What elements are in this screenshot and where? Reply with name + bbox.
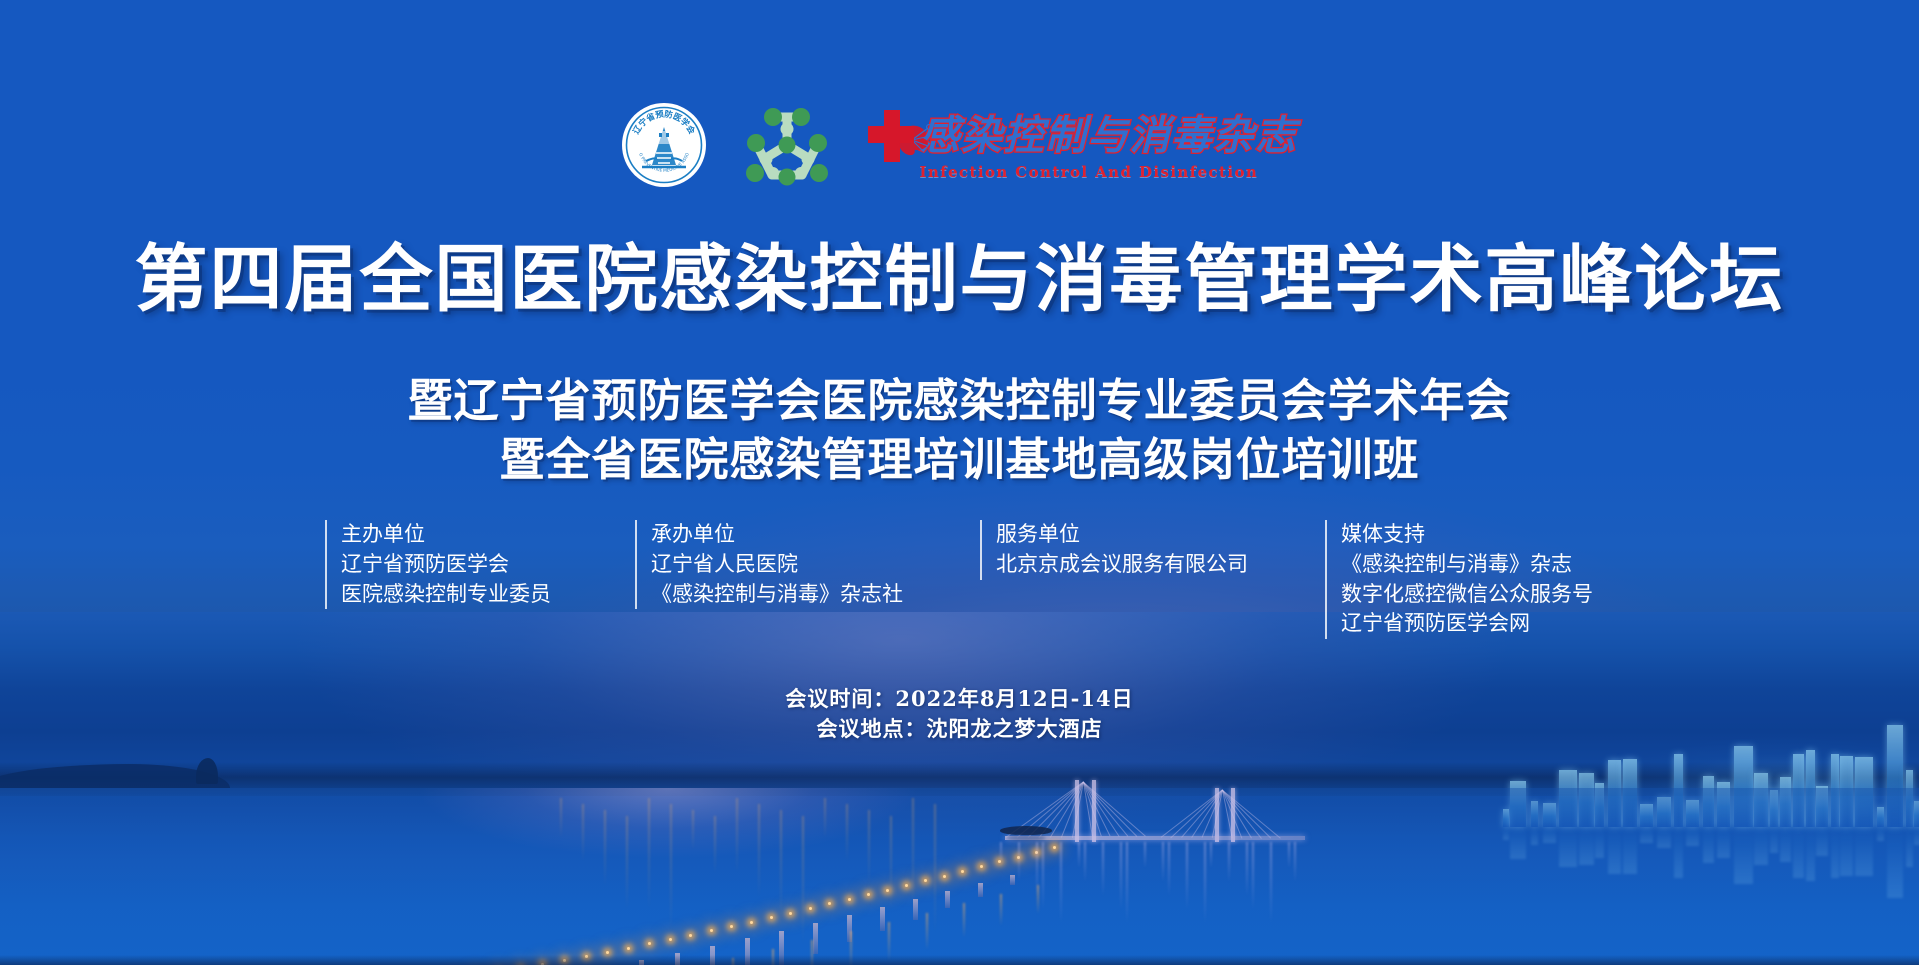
water-light-streak [758, 804, 760, 898]
water-light-streak [824, 798, 826, 838]
red-cross-icon [868, 110, 914, 162]
bridge-night-photo [0, 612, 1919, 965]
tower-light-reflection [1162, 842, 1164, 882]
bridge-lamp [886, 889, 889, 892]
water-light-streak [780, 810, 782, 922]
tower-light-reflection [1204, 842, 1206, 924]
bridge-lamp [606, 951, 609, 954]
tower-light-reflection [1144, 842, 1146, 868]
meeting-info: 会议时间：2022年8月12日-14日 会议地点：沈阳龙之梦大酒店 [0, 684, 1919, 744]
water-light-streak [912, 798, 914, 910]
boat [1000, 826, 1052, 835]
bridge-lamp [924, 879, 927, 882]
logo-row: 辽宁省预防医学会 LIAONING PREVENTIVE MEDICINE AS… [0, 96, 1919, 194]
org-line: 数字化感控微信公众服务号 [1341, 580, 1625, 610]
bridge-lamp [770, 916, 773, 919]
water-light-streak [868, 810, 870, 886]
tower-light-reflection [1036, 842, 1038, 896]
org-line: 《感染控制与消毒》杂志 [1341, 550, 1625, 580]
tower-light-reflection [1084, 842, 1086, 882]
tower-light-reflection [1252, 842, 1254, 910]
liaoning-preventive-medicine-association-emblem: 辽宁省预防医学会 LIAONING PREVENTIVE MEDICINE AS… [622, 103, 706, 187]
water-light-streak [714, 816, 716, 874]
bridge-lamp [961, 870, 964, 873]
bridge-lamp [905, 884, 908, 887]
bridge-lamp [848, 898, 851, 901]
bridge-lamp [1053, 846, 1056, 849]
conference-poster: 辽宁省预防医学会 LIAONING PREVENTIVE MEDICINE AS… [0, 0, 1919, 965]
bridge-lamp [943, 875, 946, 878]
tower-light-reflection [1078, 842, 1080, 868]
water-light-streak [890, 816, 892, 910]
tower-light-reflection [1186, 842, 1188, 910]
tower-light-reflection [1270, 842, 1272, 924]
tower-light-reflection [1168, 842, 1170, 896]
water-light-streak [604, 810, 606, 886]
org-line: 北京京成会议服务有限公司 [996, 550, 1325, 580]
tower-light-reflection [1000, 842, 1002, 868]
main-title: 第四届全国医院感染控制与消毒管理学术高峰论坛 [0, 243, 1919, 316]
bridge-lamp [730, 925, 733, 928]
sub-title-2: 暨全省医院感染管理培训基地高级岗位培训班 [0, 423, 1919, 488]
tower-light-reflection [1210, 842, 1212, 868]
bridge-pier [1010, 875, 1015, 885]
water-light-streak [846, 804, 848, 862]
bridge-lamp [627, 947, 630, 950]
org-heading: 承办单位 [651, 520, 980, 550]
journal-title-cn: 感染控制与消毒杂志 [920, 115, 1298, 157]
org-heading: 服务单位 [996, 520, 1325, 550]
journal-title-en: Infection Control And Disinfection [920, 163, 1259, 181]
org-column-service: 服务单位 北京京成会议服务有限公司 [980, 520, 1325, 580]
lamp-reflection [926, 913, 928, 950]
bridge-pier [945, 891, 950, 908]
tower-light-reflection [1120, 842, 1122, 910]
bridge-lamp [980, 865, 983, 868]
bridge-lamp [750, 921, 753, 924]
tower-light-reflection [1294, 842, 1296, 882]
org-column-organizer: 承办单位 辽宁省人民医院 《感染控制与消毒》杂志社 [635, 520, 980, 609]
tower-light-reflection [1246, 842, 1248, 896]
org-line: 辽宁省预防医学会网 [1341, 609, 1625, 639]
organization-columns: 主办单位 辽宁省预防医学会 医院感染控制专业委员 承办单位 辽宁省人民医院 《感… [325, 520, 1625, 640]
molecule-cluster-logo [742, 103, 832, 187]
tower-light-reflection [1288, 842, 1290, 868]
meeting-time: 会议时间：2022年8月12日-14日 [0, 684, 1919, 714]
tower-light-reflection [1018, 842, 1020, 882]
water-light-streak [670, 804, 672, 934]
tower-light-reflection [1228, 842, 1230, 882]
sub-title-1: 暨辽宁省预防医学会医院感染控制专业委员会学术年会 [0, 364, 1919, 429]
tower-light-reflection [1060, 842, 1062, 924]
bridge-pier [978, 883, 983, 896]
water-light-streak [934, 804, 936, 934]
water-light-streak [692, 810, 694, 850]
org-heading: 主办单位 [341, 520, 635, 550]
water-light-streak [648, 798, 650, 910]
bridge-lamp [669, 938, 672, 941]
meeting-place: 会议地点：沈阳龙之梦大酒店 [0, 714, 1919, 744]
photo-bottom-edge [0, 955, 1919, 965]
tower-light-reflection [1102, 842, 1104, 896]
org-column-media: 媒体支持 《感染控制与消毒》杂志 数字化感控微信公众服务号 辽宁省预防医学会网 [1325, 520, 1625, 639]
water-light-streak [802, 816, 804, 946]
water-light-streak [560, 798, 562, 838]
org-heading: 媒体支持 [1341, 520, 1625, 550]
water-light-streak [582, 804, 584, 862]
org-line: 辽宁省预防医学会 [341, 550, 635, 580]
lamp-reflection [963, 903, 965, 938]
lamp-reflection [1000, 894, 1002, 926]
org-line: 《感染控制与消毒》杂志社 [651, 580, 980, 610]
org-column-host: 主办单位 辽宁省预防医学会 医院感染控制专业委员 [325, 520, 635, 609]
water-light-streak [736, 798, 738, 874]
tower-light-reflection [1042, 842, 1044, 910]
org-line: 辽宁省人民医院 [651, 550, 980, 580]
tower-light-reflection [1126, 842, 1128, 924]
org-line: 医院感染控制专业委员 [341, 580, 635, 610]
infection-control-and-disinfection-journal-logo: 感染控制与消毒杂志 Infection Control And Disinfec… [868, 110, 1298, 181]
water-light-streak [626, 816, 628, 910]
